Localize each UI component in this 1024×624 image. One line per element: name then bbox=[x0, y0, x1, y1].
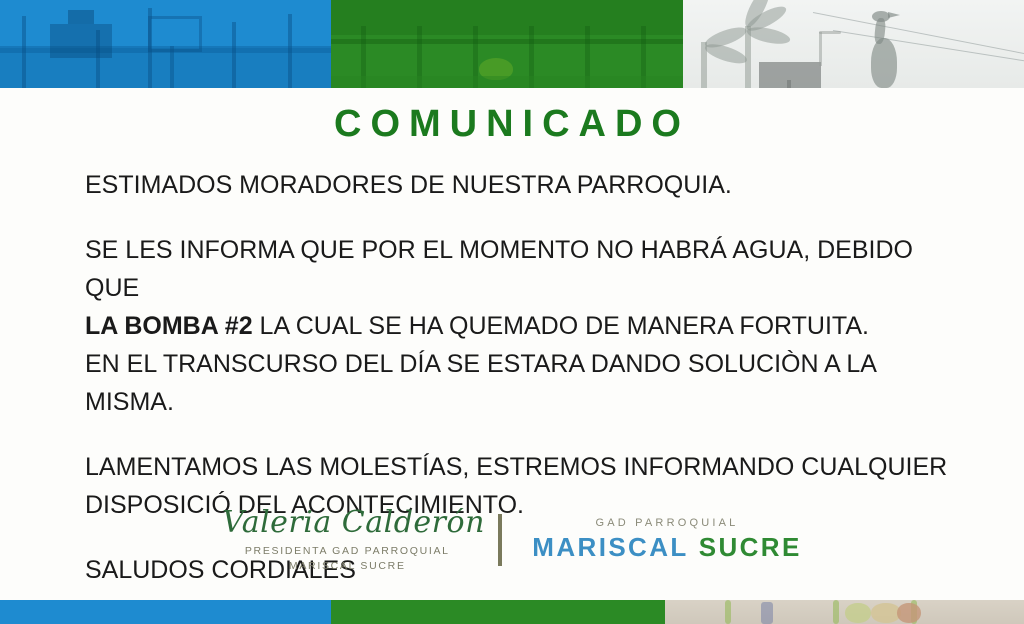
signature-role-line-2: MARISCAL SUCRE bbox=[222, 559, 472, 574]
fence-rail-shape bbox=[331, 39, 683, 44]
person-shape bbox=[761, 602, 773, 624]
road-sign-icon bbox=[759, 62, 821, 88]
signature-block: Valeria Calderón PRESIDENTA GAD PARROQUI… bbox=[0, 506, 1024, 574]
heron-beak-shape bbox=[888, 12, 900, 18]
fruit-shape bbox=[897, 603, 921, 623]
hoop-post-shape bbox=[170, 46, 174, 88]
logo-wordmark: MARISCALSUCRE bbox=[532, 532, 801, 563]
signature-role-line-1: PRESIDENTA GAD PARROQUIAL bbox=[222, 544, 472, 559]
heron-bird-icon bbox=[871, 38, 897, 88]
logo-word-mariscal: MARISCAL bbox=[532, 532, 688, 562]
fruit-shape bbox=[845, 603, 871, 623]
building-shape bbox=[50, 24, 112, 58]
signature-name: Valeria Calderón bbox=[222, 506, 472, 540]
paragraph-notice-line-3: EN EL TRANSCURSO DEL DÍA SE ESTARA DANDO… bbox=[85, 345, 965, 421]
bottom-image-banner bbox=[0, 600, 1024, 624]
lawn-shape bbox=[331, 76, 683, 88]
institution-logo: GAD PARROQUIAL MARISCALSUCRE bbox=[532, 517, 801, 563]
logo-word-sucre: SUCRE bbox=[699, 532, 802, 562]
banner-panel-palms-bird bbox=[683, 0, 1024, 88]
light-pole-icon bbox=[22, 16, 26, 88]
bottom-panel-park-fence bbox=[331, 600, 665, 624]
plant-leaf-shape bbox=[725, 600, 731, 624]
vertical-divider bbox=[498, 514, 502, 566]
bottom-panel-sports-court bbox=[0, 600, 331, 624]
top-image-banner bbox=[0, 0, 1024, 88]
paragraph-notice-line-2: LA BOMBA #2 LA CUAL SE HA QUEMADO DE MAN… bbox=[85, 307, 965, 345]
pump-reference-bold: LA BOMBA #2 bbox=[85, 312, 253, 340]
paragraph-greeting: ESTIMADOS MORADORES DE NUESTRA PARROQUIA… bbox=[85, 166, 965, 204]
signature-role: PRESIDENTA GAD PARROQUIAL MARISCAL SUCRE bbox=[222, 544, 472, 574]
street-lamp-arm-shape bbox=[819, 31, 841, 34]
light-pole-icon bbox=[288, 14, 292, 88]
paragraph-apology-line-1: LAMENTAMOS LAS MOLESTÍAS, ESTREMOS INFOR… bbox=[85, 448, 965, 486]
banner-panel-sports-court bbox=[0, 0, 331, 88]
paragraph-notice-line-1: SE LES INFORMA QUE POR EL MOMENTO NO HAB… bbox=[85, 231, 965, 307]
light-pole-icon bbox=[232, 22, 236, 88]
pump-reference-rest: LA CUAL SE HA QUEMADO DE MANERA FORTUITA… bbox=[253, 312, 869, 340]
logo-eyebrow-text: GAD PARROQUIAL bbox=[532, 517, 801, 529]
bottom-panel-harvest bbox=[665, 600, 1024, 624]
treeline-shape bbox=[331, 0, 683, 35]
signature-group: Valeria Calderón PRESIDENTA GAD PARROQUI… bbox=[222, 506, 472, 574]
banner-panel-park-fence bbox=[331, 0, 683, 88]
building-roof-shape bbox=[68, 10, 94, 24]
street-lamp-icon bbox=[819, 32, 822, 66]
plant-leaf-shape bbox=[833, 600, 839, 624]
basketball-hoop-icon bbox=[148, 16, 202, 52]
page-title: COMUNICADO bbox=[0, 103, 1024, 146]
comunicado-poster: COMUNICADO ESTIMADOS MORADORES DE NUESTR… bbox=[0, 0, 1024, 624]
